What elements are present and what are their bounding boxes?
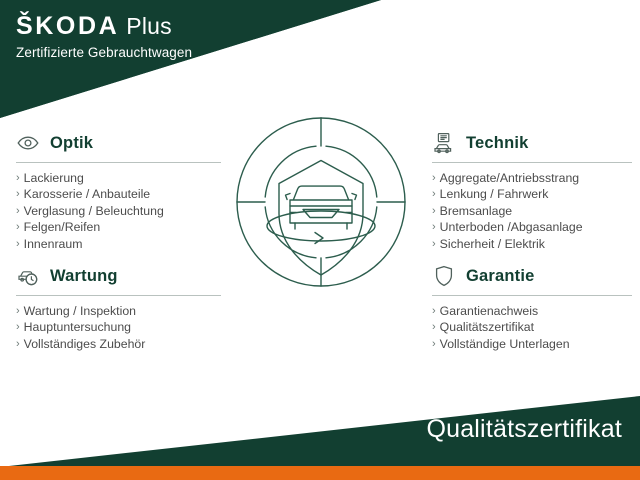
emblem-car-front: [286, 186, 357, 229]
section-technik-divider: [432, 162, 632, 163]
list-item-label: Hauptuntersuchung: [24, 319, 131, 335]
section-optik-divider: [16, 162, 221, 163]
section-technik: Technik ›Aggregate/Antriebsstrang ›Lenku…: [432, 130, 632, 252]
section-technik-list: ›Aggregate/Antriebsstrang ›Lenkung / Fah…: [432, 170, 632, 252]
chevron-right-icon: ›: [16, 303, 20, 319]
car-clock-icon: [16, 264, 40, 288]
shield-car-rotation-icon: [233, 114, 409, 290]
list-item-label: Verglasung / Beleuchtung: [24, 203, 164, 219]
list-item-label: Vollständiges Zubehör: [24, 336, 146, 352]
section-wartung-header: Wartung: [16, 263, 221, 289]
car-lift-icon: [432, 131, 456, 155]
list-item: ›Lenkung / Fahrwerk: [432, 186, 632, 202]
list-item-label: Aggregate/Antriebsstrang: [440, 170, 579, 186]
list-item-label: Lackierung: [24, 170, 84, 186]
list-item: ›Sicherheit / Elektrik: [432, 236, 632, 252]
list-item-label: Vollständige Unterlagen: [440, 336, 570, 352]
emblem-crosshair-spokes: [237, 118, 405, 286]
section-garantie-title: Garantie: [466, 267, 535, 286]
section-wartung-divider: [16, 295, 221, 296]
certificate-page: ŠKODA Plus Zertifizierte Gebrauchtwagen …: [0, 0, 640, 480]
list-item: ›Hauptuntersuchung: [16, 319, 221, 335]
list-item-label: Felgen/Reifen: [24, 219, 101, 235]
chevron-right-icon: ›: [16, 170, 20, 186]
list-item: ›Vollständige Unterlagen: [432, 336, 632, 352]
chevron-right-icon: ›: [16, 236, 20, 252]
brand-logo: ŠKODA Plus Zertifizierte Gebrauchtwagen: [16, 14, 192, 60]
section-garantie-list: ›Garantienachweis ›Qualitätszertifikat ›…: [432, 303, 632, 352]
list-item: ›Qualitätszertifikat: [432, 319, 632, 335]
chevron-right-icon: ›: [16, 219, 20, 235]
chevron-right-icon: ›: [432, 303, 436, 319]
list-item: ›Garantienachweis: [432, 303, 632, 319]
list-item-label: Wartung / Inspektion: [24, 303, 136, 319]
section-wartung-list: ›Wartung / Inspektion ›Hauptuntersuchung…: [16, 303, 221, 352]
list-item-label: Qualitätszertifikat: [440, 319, 534, 335]
chevron-right-icon: ›: [16, 186, 20, 202]
section-optik: Optik ›Lackierung ›Karosserie / Anbautei…: [16, 130, 221, 252]
section-optik-title: Optik: [50, 134, 93, 153]
section-wartung: Wartung ›Wartung / Inspektion ›Hauptunte…: [16, 263, 221, 352]
list-item: ›Bremsanlage: [432, 203, 632, 219]
list-item: ›Verglasung / Beleuchtung: [16, 203, 221, 219]
footer-orange-strip: [0, 466, 640, 480]
list-item: ›Lackierung: [16, 170, 221, 186]
section-garantie: Garantie ›Garantienachweis ›Qualitätszer…: [432, 263, 632, 352]
section-optik-list: ›Lackierung ›Karosserie / Anbauteile ›Ve…: [16, 170, 221, 252]
list-item: ›Aggregate/Antriebsstrang: [432, 170, 632, 186]
brand-row: ŠKODA Plus: [16, 14, 192, 39]
list-item-label: Lenkung / Fahrwerk: [440, 186, 549, 202]
list-item-label: Bremsanlage: [440, 203, 512, 219]
brand-suffix: Plus: [126, 15, 172, 38]
section-wartung-title: Wartung: [50, 267, 118, 286]
shield-icon: [432, 264, 456, 288]
chevron-right-icon: ›: [432, 170, 436, 186]
chevron-right-icon: ›: [432, 319, 436, 335]
chevron-right-icon: ›: [432, 236, 436, 252]
chevron-right-icon: ›: [16, 319, 20, 335]
list-item: ›Felgen/Reifen: [16, 219, 221, 235]
list-item: ›Vollständiges Zubehör: [16, 336, 221, 352]
list-item: ›Karosserie / Anbauteile: [16, 186, 221, 202]
list-item: ›Unterboden /Abgasanlage: [432, 219, 632, 235]
list-item-label: Karosserie / Anbauteile: [24, 186, 150, 202]
list-item: ›Innenraum: [16, 236, 221, 252]
list-item-label: Innenraum: [24, 236, 83, 252]
emblem-orbit-arrow: [315, 233, 323, 244]
eye-icon: [16, 131, 40, 155]
section-garantie-divider: [432, 295, 632, 296]
chevron-right-icon: ›: [432, 219, 436, 235]
list-item-label: Garantienachweis: [440, 303, 538, 319]
chevron-right-icon: ›: [16, 203, 20, 219]
section-optik-header: Optik: [16, 130, 221, 156]
brand-name: ŠKODA: [16, 14, 119, 39]
list-item-label: Unterboden /Abgasanlage: [440, 219, 583, 235]
chevron-right-icon: ›: [432, 336, 436, 352]
brand-subtitle: Zertifizierte Gebrauchtwagen: [16, 46, 192, 60]
footer-title: Qualitätszertifikat: [426, 415, 622, 444]
chevron-right-icon: ›: [16, 336, 20, 352]
list-item-label: Sicherheit / Elektrik: [440, 236, 545, 252]
chevron-right-icon: ›: [432, 203, 436, 219]
section-technik-title: Technik: [466, 134, 529, 153]
list-item: ›Wartung / Inspektion: [16, 303, 221, 319]
section-garantie-header: Garantie: [432, 263, 632, 289]
chevron-right-icon: ›: [432, 186, 436, 202]
section-technik-header: Technik: [432, 130, 632, 156]
